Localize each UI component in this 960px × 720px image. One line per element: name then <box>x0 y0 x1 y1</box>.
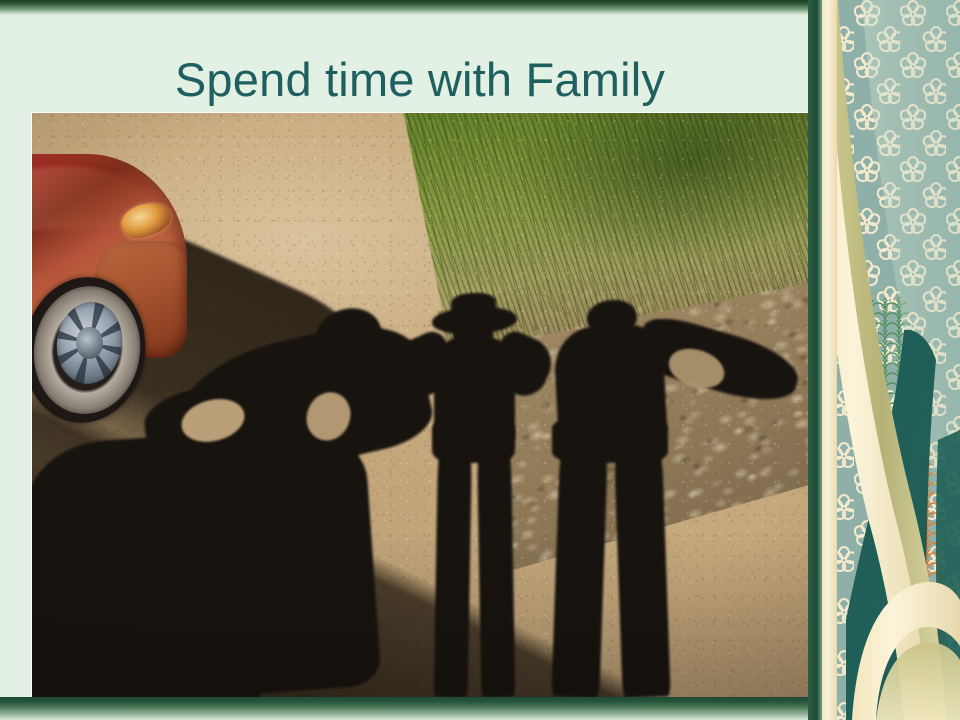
shadow-figure-right-leg-right <box>613 428 670 697</box>
slide-top-edge-band <box>0 0 820 16</box>
title-placeholder: Spend time with Family <box>32 48 808 110</box>
page-title: Spend time with Family <box>175 56 665 103</box>
slide-photo <box>32 113 808 697</box>
shadow-figure-left-leg-2 <box>32 468 271 697</box>
shadow-figure-right-leg-left <box>551 428 608 697</box>
shadow-figure-middle-leg-right <box>477 428 516 697</box>
slide-bottom-edge-band <box>0 697 830 720</box>
decorative-border-art <box>808 0 960 720</box>
car-wheel-hub <box>76 327 102 360</box>
photo-content <box>32 113 808 697</box>
decorative-border-panel <box>808 0 960 720</box>
shadow-figure-middle-leg-left <box>433 428 472 697</box>
presentation-slide: Spend time with Family <box>0 0 960 720</box>
